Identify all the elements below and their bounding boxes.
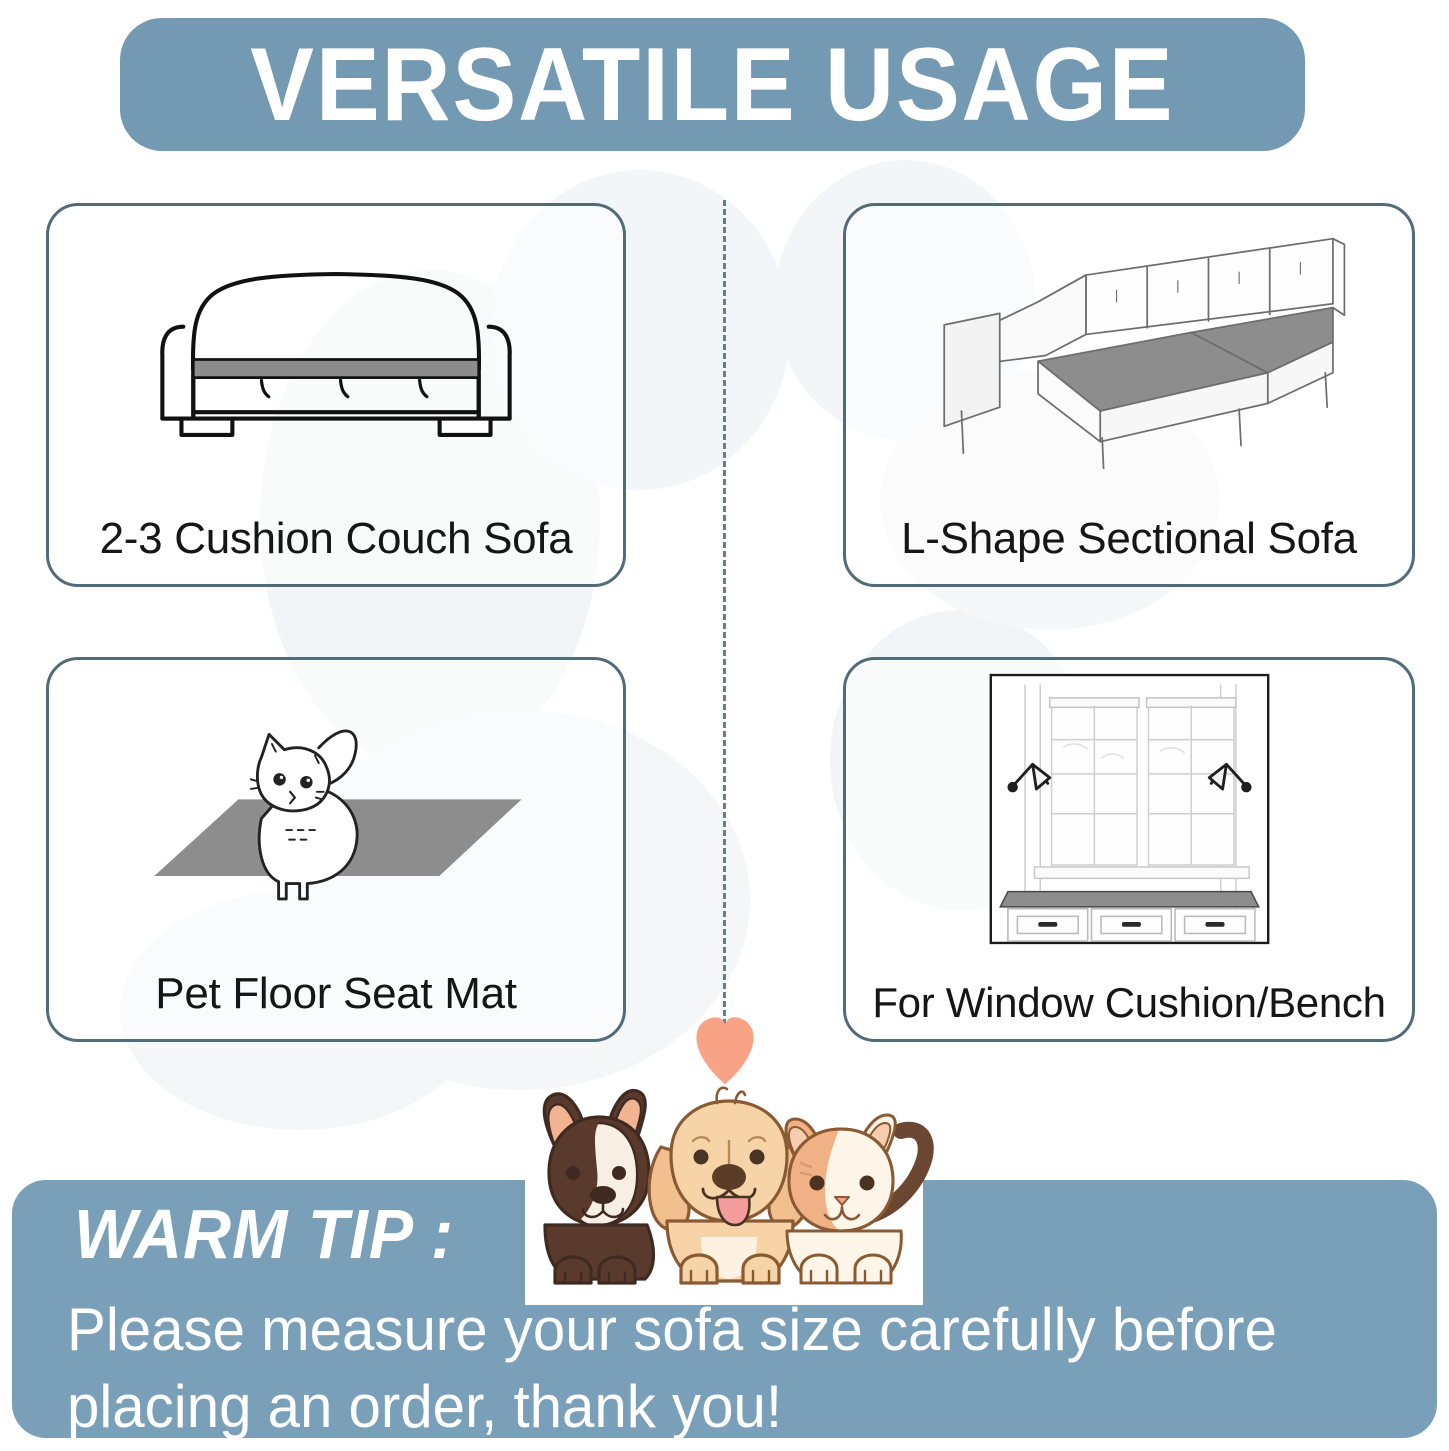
center-divider	[723, 200, 726, 1025]
usage-card-couch-sofa[interactable]: 2-3 Cushion Couch Sofa	[46, 203, 626, 587]
heart-icon	[697, 1018, 752, 1083]
warm-tip-heading: WARM TIP :	[74, 1194, 454, 1274]
usage-card-l-shape-sectional[interactable]: L-Shape Sectional Sofa	[843, 203, 1415, 587]
usage-card-window-bench[interactable]: For Window Cushion/Bench	[843, 657, 1415, 1042]
card-label-couch: 2-3 Cushion Couch Sofa	[49, 514, 623, 564]
warm-tip-body: Please measure your sofa size carefully …	[67, 1292, 1367, 1446]
l-shape-sectional-icon	[846, 206, 1412, 481]
page-title: VERSATILE USAGE	[250, 33, 1174, 137]
cat-on-mat-icon	[49, 664, 623, 954]
couch-sofa-icon	[49, 206, 623, 481]
usage-card-pet-floor-mat[interactable]: Pet Floor Seat Mat	[46, 657, 626, 1042]
window-bench-icon	[846, 664, 1412, 954]
pets-trio-illustration	[495, 1005, 955, 1305]
card-label-lshape: L-Shape Sectional Sofa	[846, 514, 1412, 564]
header-banner: VERSATILE USAGE	[120, 18, 1305, 151]
